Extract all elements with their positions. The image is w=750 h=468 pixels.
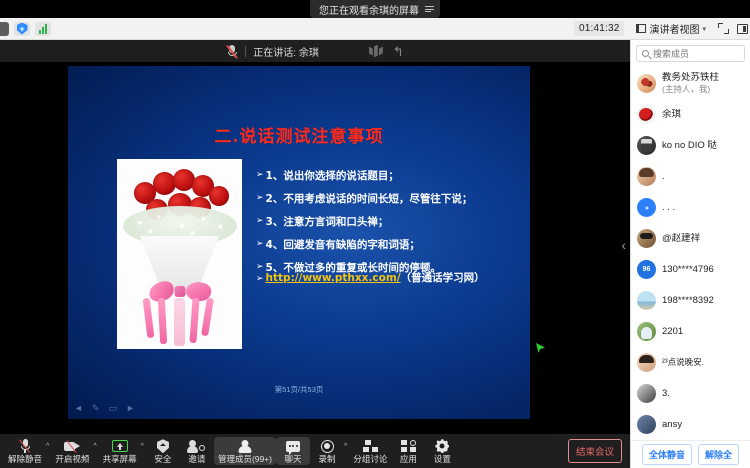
list-item[interactable]: 3.	[631, 378, 750, 409]
participant-name: ²³点说晚安.	[662, 357, 704, 368]
settings-label: 设置	[434, 455, 451, 464]
list-item[interactable]: 余琪	[631, 99, 750, 130]
breakout-rooms-icon	[363, 439, 378, 454]
prev-slide-icon[interactable]: ◄	[74, 404, 83, 413]
end-meeting-button[interactable]: 结束会议	[568, 439, 622, 463]
invite-icon	[188, 439, 205, 454]
link-suffix: （普通话学习网）	[401, 270, 485, 285]
presentation-slide: 二.说话测试注意事项	[68, 66, 530, 419]
list-item[interactable]: 96 130****4796	[631, 254, 750, 285]
security-label: 安全	[154, 455, 171, 464]
bullet-text: 4、回避发音有缺陷的字和词语；	[266, 239, 420, 251]
slide-link-row: ➢ http://www.pthxx.com/ （普通话学习网）	[256, 270, 485, 285]
avatar	[637, 74, 656, 93]
share-screen-icon	[112, 439, 128, 454]
chat-icon	[286, 439, 300, 454]
search-box[interactable]	[636, 45, 745, 62]
zoom-meeting-window: 您正在观看余琪的屏幕 01:41:32 演讲者视图 ▾ 正在讲话:	[0, 0, 750, 468]
topbar-controls: 01:41:32 演讲者视图 ▾	[574, 19, 750, 38]
list-item[interactable]: ko no DIO 哒	[631, 130, 750, 161]
list-item[interactable]: 教务处苏铁柱 (主持人，我)	[631, 68, 750, 99]
pthxx-link[interactable]: http://www.pthxx.com/	[266, 272, 401, 284]
unmute-button[interactable]: 解除静音	[4, 437, 46, 466]
return-icon[interactable]: ↰	[393, 45, 404, 58]
active-speaker-strip: 正在讲话: 余琪 ↰	[0, 40, 630, 62]
panel-action-buttons: 全体静音 解除全	[631, 440, 750, 468]
apps-label: 应用	[400, 455, 417, 464]
remote-pointer-cursor	[536, 343, 545, 353]
avatar	[637, 353, 656, 372]
split-view-icon[interactable]	[737, 24, 748, 34]
avatar: 96	[637, 260, 656, 279]
participants-icon	[238, 439, 252, 454]
participant-list[interactable]: 教务处苏铁柱 (主持人，我) 余琪 ko no DIO 哒 . . . .	[631, 66, 750, 440]
breakout-rooms-button[interactable]: 分组讨论	[349, 437, 391, 466]
manage-participants-label: 管理成员(99+)	[218, 455, 272, 464]
bullet-arrow-icon: ➢	[256, 239, 264, 251]
screen-share-banner: 您正在观看余琪的屏幕	[310, 0, 440, 18]
participant-search-wrapper	[631, 40, 750, 66]
avatar	[637, 322, 656, 341]
ppt-navigation-bar[interactable]: ◄ ✎ ▭ ►	[74, 404, 135, 413]
pink-ribbons	[143, 298, 217, 346]
bullet-arrow-icon: ➢	[256, 273, 264, 284]
share-screen-label: 共享屏幕	[103, 455, 137, 464]
apps-icon	[401, 439, 416, 454]
record-button[interactable]: 录制	[310, 437, 344, 466]
avatar	[637, 198, 656, 217]
settings-button[interactable]: 设置	[425, 437, 459, 466]
menu-icon[interactable]	[425, 6, 434, 12]
avatar	[637, 229, 656, 248]
mic-muted-icon[interactable]	[226, 44, 238, 58]
mic-muted-icon	[20, 439, 31, 454]
breakout-rooms-label: 分组讨论	[353, 455, 387, 464]
fullscreen-icon[interactable]	[718, 23, 729, 34]
layout-icon	[636, 24, 646, 33]
list-item: ➢ 4、回避发音有缺陷的字和词语；	[256, 239, 516, 251]
avatar	[637, 291, 656, 310]
mute-all-button[interactable]: 全体静音	[642, 444, 692, 465]
chat-label: 聊天	[285, 455, 302, 464]
invite-label: 邀请	[188, 455, 205, 464]
collapse-panel-chevron-icon[interactable]: ‹	[621, 238, 626, 252]
settings-gear-icon	[435, 439, 449, 454]
video-options-chevron-icon[interactable]: ^	[93, 443, 98, 459]
participant-name: ansy	[662, 419, 682, 431]
start-video-button[interactable]: 开启视频	[51, 437, 93, 466]
invite-button[interactable]: 邀请	[180, 437, 214, 466]
active-speaker-label: 正在讲话: 余琪	[253, 44, 319, 59]
security-icon	[157, 439, 169, 454]
list-item[interactable]: ansy	[631, 409, 750, 440]
apps-button[interactable]: 应用	[391, 437, 425, 466]
list-item[interactable]: 2201	[631, 316, 750, 347]
participant-name: @赵建祥	[662, 233, 700, 245]
bullet-text: 1、说出你选择的说话题目；	[266, 170, 399, 182]
manage-participants-button[interactable]: 管理成员(99+)	[214, 437, 276, 466]
bullet-text: 2、不用考虑说话的时间长短，尽管往下说；	[266, 193, 473, 205]
list-item[interactable]: ²³点说晚安.	[631, 347, 750, 378]
participant-name: 3.	[662, 388, 670, 400]
list-item[interactable]: . . .	[631, 192, 750, 223]
bullet-text: 3、注意方言词和口头禅；	[266, 216, 389, 228]
participant-name: .	[662, 171, 665, 183]
participant-name: ko no DIO 哒	[662, 140, 717, 152]
avatar	[637, 105, 656, 124]
rose-bouquet-photo	[117, 159, 242, 349]
signal-strength-icon[interactable]	[35, 22, 51, 36]
unmute-label: 解除静音	[8, 455, 42, 464]
divider	[245, 46, 246, 57]
slide-icon[interactable]: ▭	[108, 404, 117, 413]
chevron-down-icon: ▾	[702, 25, 706, 33]
share-screen-button[interactable]: 共享屏幕	[99, 437, 141, 466]
top-control-bar: 01:41:32 演讲者视图 ▾	[0, 18, 750, 40]
security-button[interactable]: 安全	[146, 437, 180, 466]
search-icon	[642, 50, 649, 57]
list-item[interactable]: @赵建祥	[631, 223, 750, 254]
chat-button[interactable]: 聊天	[276, 437, 310, 466]
view-mode-label: 演讲者视图	[649, 21, 699, 36]
camera-off-icon	[64, 439, 80, 454]
unmute-all-button[interactable]: 解除全	[698, 444, 739, 465]
record-icon	[321, 439, 334, 454]
slide-bullet-list: ➢ 1、说出你选择的说话题目； ➢ 2、不用考虑说话的时间长短，尽管往下说； ➢…	[256, 170, 516, 285]
avatar	[637, 415, 656, 434]
shield-icon[interactable]	[14, 22, 30, 36]
encryption-icon[interactable]	[0, 22, 9, 36]
avatar	[637, 167, 656, 186]
participant-name: . . .	[662, 202, 675, 214]
share-banner-label: 您正在观看余琪的屏幕	[319, 2, 419, 17]
avatar	[637, 384, 656, 403]
list-item: ➢ 2、不用考虑说话的时间长短，尽管往下说；	[256, 193, 516, 205]
participant-name: 余琪	[662, 109, 681, 121]
list-item[interactable]: 198****8392	[631, 285, 750, 316]
topbar-status-icons	[0, 22, 51, 36]
bullet-arrow-icon: ➢	[256, 170, 264, 182]
start-video-label: 开启视频	[55, 455, 89, 464]
slide-page-indicator: 第51页/共53页	[275, 384, 324, 395]
participants-panel: 聊天 教务处苏铁柱 (主持人，我) 余琪 ko no DIO 哒	[630, 18, 750, 468]
view-mode-button[interactable]: 演讲者视图 ▾	[632, 19, 710, 38]
record-label: 录制	[319, 455, 336, 464]
participant-name: 教务处苏铁柱	[662, 72, 719, 84]
shared-screen-stage: 二.说话测试注意事项	[0, 62, 630, 434]
meeting-timer: 01:41:32	[574, 21, 625, 36]
participant-name: 130****4796	[662, 264, 714, 276]
participant-role: (主持人，我)	[662, 84, 719, 95]
bullet-arrow-icon: ➢	[256, 193, 264, 205]
pen-icon[interactable]: ✎	[92, 404, 100, 413]
avatar	[637, 136, 656, 155]
list-item[interactable]: .	[631, 161, 750, 192]
search-input[interactable]	[653, 49, 739, 59]
bullet-arrow-icon: ➢	[256, 216, 264, 228]
list-item: ➢ 3、注意方言词和口头禅；	[256, 216, 516, 228]
slide-title: 二.说话测试注意事项	[68, 122, 530, 147]
audio-wave-icon	[369, 45, 383, 58]
participant-name: 198****8392	[662, 295, 714, 307]
participant-name: 2201	[662, 326, 683, 338]
next-slide-icon[interactable]: ►	[126, 404, 135, 413]
list-item: ➢ 1、说出你选择的说话题目；	[256, 170, 516, 182]
meeting-toolbar: 解除静音 ^ 开启视频 ^ 共享屏幕 ^ 安全 邀请	[0, 434, 630, 468]
